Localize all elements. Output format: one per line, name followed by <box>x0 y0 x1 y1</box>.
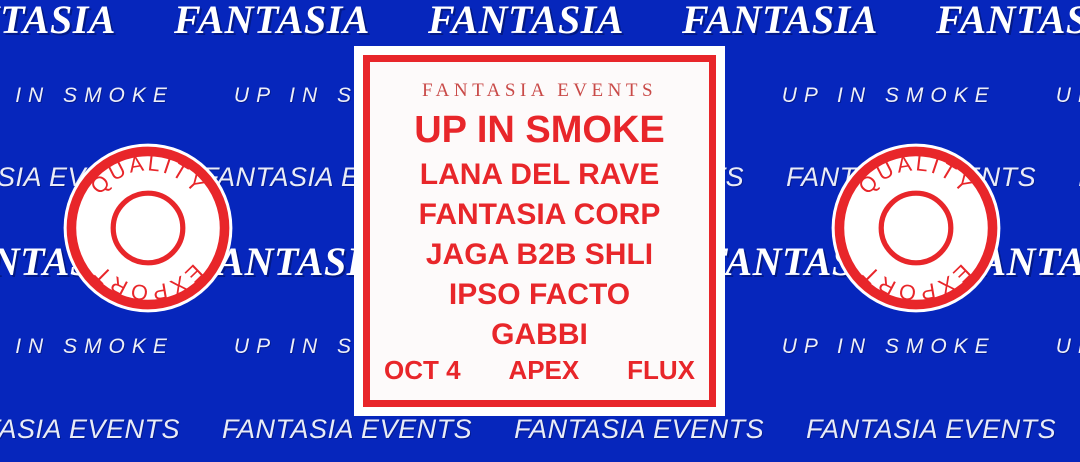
lineup-item: LANA DEL RAVE <box>420 157 659 194</box>
lineup-list: LANA DEL RAVE FANTASIA CORP JAGA B2B SHL… <box>382 157 697 353</box>
event-promoter: FLUX <box>627 355 695 386</box>
pattern-word: UP IN SMOKE <box>1056 84 1080 108</box>
pattern-word: FANTASIA EVENTS <box>806 414 1056 445</box>
quality-export-stamp-right: QUALITY EXPORT <box>829 141 1003 315</box>
flyer-card: FANTASIA EVENTS UP IN SMOKE LANA DEL RAV… <box>354 46 725 416</box>
lineup-item: FANTASIA CORP <box>419 197 661 234</box>
pattern-word: UP IN SMOKE <box>0 335 174 359</box>
pattern-row-events-2: FANTASIA EVENTSFANTASIA EVENTSFANTASIA E… <box>0 414 1080 445</box>
pattern-word: FANTASIA <box>682 0 878 43</box>
event-poster: FANTASIAFANTASIAFANTASIAFANTASIAFANTASIA… <box>0 0 1080 462</box>
pattern-word: FANTASIA EVENTS <box>222 414 472 445</box>
pattern-word: UP IN SMOKE <box>0 84 174 108</box>
pattern-word: FANTASIA <box>428 0 624 43</box>
quality-export-stamp-left: QUALITY EXPORT <box>61 141 235 315</box>
event-date: OCT 4 <box>384 355 461 386</box>
flyer-card-inner: FANTASIA EVENTS UP IN SMOKE LANA DEL RAV… <box>363 55 716 407</box>
flyer-footer: OCT 4 APEX FLUX <box>382 355 697 390</box>
pattern-word: FANTASIA EVENTS <box>0 414 180 445</box>
flyer-eyebrow: FANTASIA EVENTS <box>422 80 657 102</box>
pattern-word: FANTASIA <box>174 0 370 43</box>
pattern-word: UP IN SMOKE <box>782 84 996 108</box>
pattern-word: FANTASIA EVENTS <box>514 414 764 445</box>
lineup-item: JAGA B2B SHLI <box>426 237 653 274</box>
pattern-word: FANTASIA <box>0 0 116 43</box>
pattern-word: UP IN SMOKE <box>782 335 996 359</box>
pattern-word: FANTASIA <box>936 0 1080 43</box>
flyer-headline: UP IN SMOKE <box>414 110 665 151</box>
event-venue: APEX <box>508 355 579 386</box>
lineup-item: IPSO FACTO <box>449 277 630 314</box>
lineup-item: GABBI <box>491 317 588 354</box>
pattern-word: UP IN SMOKE <box>1056 335 1080 359</box>
pattern-row-fantasia-1: FANTASIAFANTASIAFANTASIAFANTASIAFANTASIA… <box>0 0 1080 43</box>
